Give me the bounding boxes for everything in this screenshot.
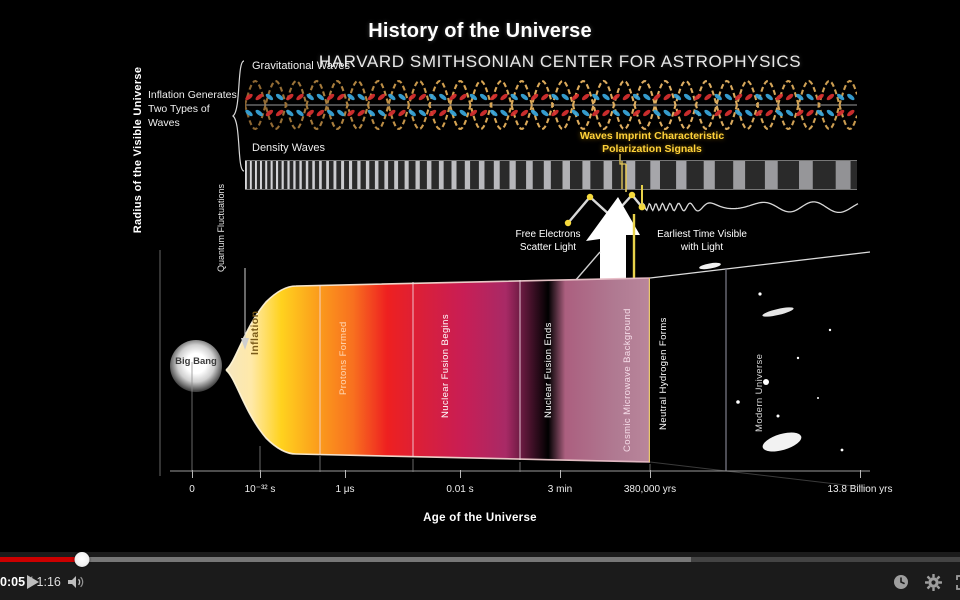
x-axis-tick-label: 0 xyxy=(189,484,195,495)
volume-button[interactable] xyxy=(60,564,94,600)
youtube-video-player: History of the Universe HARVARD SMITHSON… xyxy=(0,0,960,600)
x-axis-tick-label: 0.01 s xyxy=(446,484,473,495)
x-axis-label: Age of the Universe xyxy=(0,512,960,524)
gear-icon xyxy=(925,574,942,591)
video-frame[interactable]: History of the Universe HARVARD SMITHSON… xyxy=(0,0,960,552)
x-axis-tick-label: 1 μs xyxy=(335,484,354,495)
play-button[interactable] xyxy=(16,564,50,600)
fullscreen-button[interactable] xyxy=(948,564,960,600)
clock-icon xyxy=(893,574,909,590)
x-axis-tick-label: 380,000 yrs xyxy=(624,484,676,495)
x-axis-tick-label: 13.8 Billion yrs xyxy=(827,484,892,495)
progress-played xyxy=(0,557,82,562)
progress-buffered xyxy=(0,557,691,562)
gravitational-waves-graphic xyxy=(245,76,857,134)
y-axis-label: Radius of the Visible Universe xyxy=(132,40,146,260)
time-display: 0:05 / 1:16 xyxy=(0,564,960,600)
progress-bar[interactable] xyxy=(0,552,960,564)
watch-later-button[interactable] xyxy=(886,564,916,600)
player-controls-bar: 0:05 / 1:16 xyxy=(0,552,960,600)
timeline-guides xyxy=(170,250,870,472)
y-axis-line xyxy=(158,250,162,476)
fullscreen-icon xyxy=(956,575,960,590)
play-icon xyxy=(25,574,41,590)
volume-icon xyxy=(67,574,87,590)
gravitational-waves-label: Gravitational Waves xyxy=(252,60,350,73)
brace-icon xyxy=(232,60,246,172)
x-axis-tick-label: 10⁻³² s xyxy=(245,484,276,495)
density-waves-label: Density Waves xyxy=(252,142,325,155)
x-axis-tick-label: 3 min xyxy=(548,484,572,495)
settings-button[interactable] xyxy=(918,564,948,600)
inflation-note: Inflation Generates Two Types of Waves xyxy=(148,88,240,130)
